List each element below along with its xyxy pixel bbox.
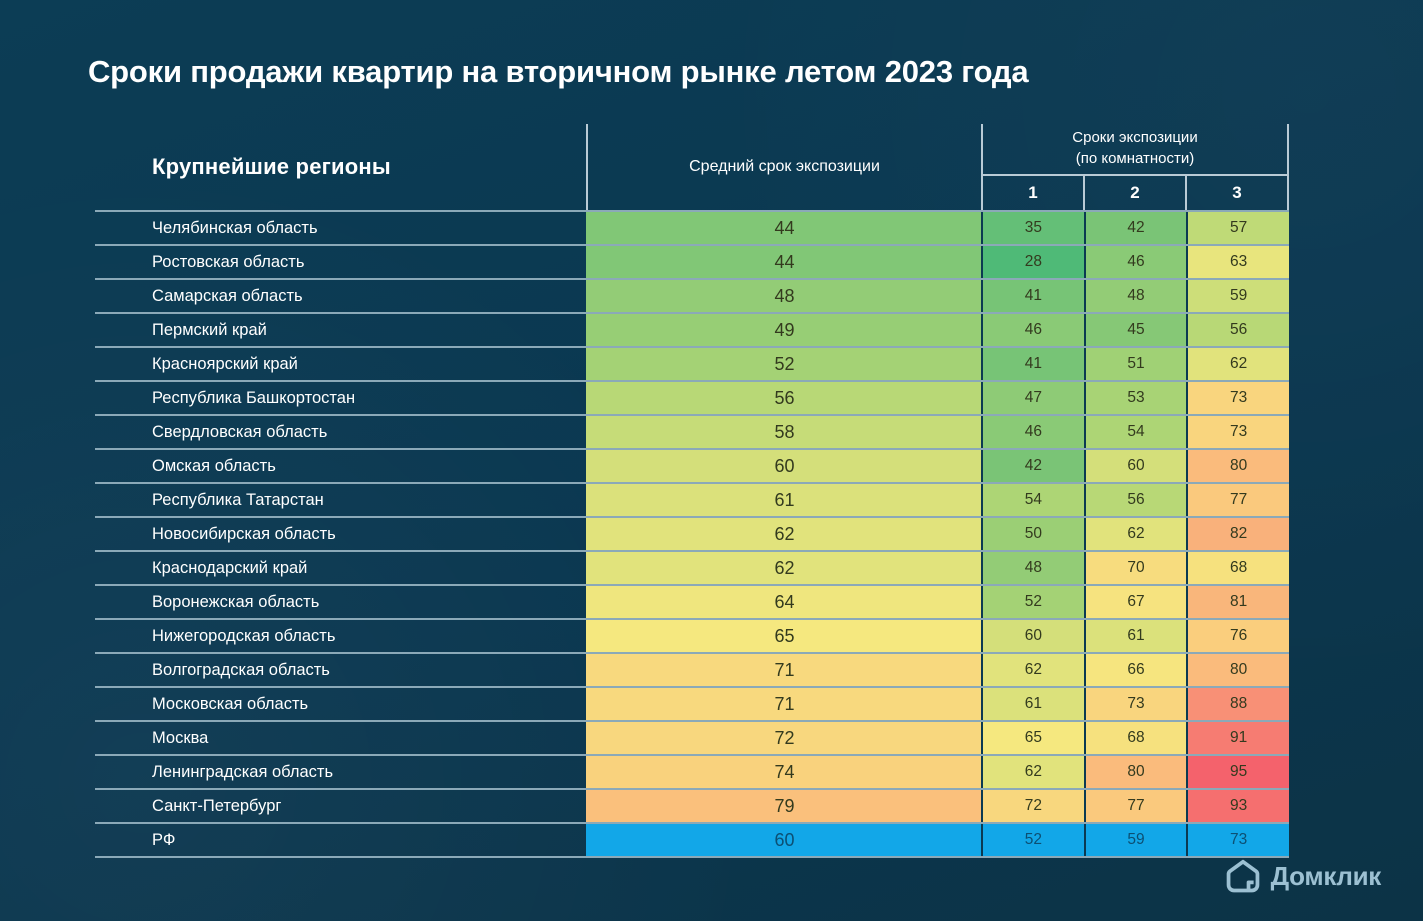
rooms-3-cell: 76 xyxy=(1186,620,1289,652)
table-row: Москва72656891 xyxy=(95,720,1289,754)
table-row: Нижегородская область65606176 xyxy=(95,618,1289,652)
exposure-table: Крупнейшие регионы Средний срок экспозиц… xyxy=(95,124,1289,858)
table-row: Санкт-Петербург79727793 xyxy=(95,788,1289,822)
region-name: Омская область xyxy=(95,450,586,482)
rooms-cell-group: 426080 xyxy=(981,450,1289,482)
rooms-2-cell: 45 xyxy=(1084,314,1187,346)
rooms-1-cell: 52 xyxy=(981,586,1084,618)
region-name: Краснодарский край xyxy=(95,552,586,584)
rooms-cell-group: 284663 xyxy=(981,246,1289,278)
region-name: Пермский край xyxy=(95,314,586,346)
header-rooms-3: 3 xyxy=(1185,176,1287,210)
average-exposure-cell: 72 xyxy=(586,722,981,754)
region-name: РФ xyxy=(95,824,586,856)
rooms-3-cell: 80 xyxy=(1186,654,1289,686)
rooms-3-cell: 59 xyxy=(1186,280,1289,312)
average-exposure-cell: 56 xyxy=(586,382,981,414)
region-name: Республика Татарстан xyxy=(95,484,586,516)
rooms-2-cell: 54 xyxy=(1084,416,1187,448)
rooms-cell-group: 628095 xyxy=(981,756,1289,788)
table-row: Ленинградская область74628095 xyxy=(95,754,1289,788)
brand-name: Домклик xyxy=(1271,861,1381,892)
table-row: Самарская область48414859 xyxy=(95,278,1289,312)
region-name: Новосибирская область xyxy=(95,518,586,550)
brand-logo: Домклик xyxy=(1226,859,1381,893)
header-rooms-2: 2 xyxy=(1083,176,1185,210)
rooms-1-cell: 28 xyxy=(981,246,1084,278)
rooms-2-cell: 68 xyxy=(1084,722,1187,754)
average-exposure-cell: 64 xyxy=(586,586,981,618)
table-row: Челябинская область44354257 xyxy=(95,210,1289,244)
table-row: РФ60525973 xyxy=(95,822,1289,858)
average-exposure-cell: 62 xyxy=(586,552,981,584)
rooms-3-cell: 73 xyxy=(1186,382,1289,414)
rooms-1-cell: 61 xyxy=(981,688,1084,720)
rooms-cell-group: 475373 xyxy=(981,382,1289,414)
average-exposure-cell: 65 xyxy=(586,620,981,652)
rooms-1-cell: 54 xyxy=(981,484,1084,516)
table-row: Новосибирская область62506282 xyxy=(95,516,1289,550)
rooms-2-cell: 42 xyxy=(1084,212,1187,244)
rooms-1-cell: 60 xyxy=(981,620,1084,652)
table-header: Крупнейшие регионы Средний срок экспозиц… xyxy=(95,124,1289,210)
rooms-2-cell: 53 xyxy=(1084,382,1187,414)
average-exposure-cell: 60 xyxy=(586,450,981,482)
table-body: Челябинская область44354257Ростовская об… xyxy=(95,210,1289,858)
rooms-3-cell: 81 xyxy=(1186,586,1289,618)
table-row: Воронежская область64526781 xyxy=(95,584,1289,618)
average-exposure-cell: 74 xyxy=(586,756,981,788)
rooms-3-cell: 88 xyxy=(1186,688,1289,720)
region-name: Ленинградская область xyxy=(95,756,586,788)
rooms-3-cell: 73 xyxy=(1186,824,1289,856)
rooms-2-cell: 66 xyxy=(1084,654,1187,686)
rooms-1-cell: 65 xyxy=(981,722,1084,754)
region-name: Волгоградская область xyxy=(95,654,586,686)
rooms-cell-group: 415162 xyxy=(981,348,1289,380)
rooms-1-cell: 35 xyxy=(981,212,1084,244)
rooms-1-cell: 50 xyxy=(981,518,1084,550)
region-name: Красноярский край xyxy=(95,348,586,380)
rooms-2-cell: 46 xyxy=(1084,246,1187,278)
average-exposure-cell: 71 xyxy=(586,654,981,686)
header-rooms-title-line1: Сроки экспозиции xyxy=(1072,128,1197,149)
rooms-1-cell: 41 xyxy=(981,280,1084,312)
rooms-3-cell: 62 xyxy=(1186,348,1289,380)
rooms-3-cell: 57 xyxy=(1186,212,1289,244)
rooms-cell-group: 414859 xyxy=(981,280,1289,312)
table-row: Московская область71617388 xyxy=(95,686,1289,720)
table-row: Республика Татарстан61545677 xyxy=(95,482,1289,516)
rooms-2-cell: 56 xyxy=(1084,484,1187,516)
rooms-cell-group: 506282 xyxy=(981,518,1289,550)
rooms-cell-group: 626680 xyxy=(981,654,1289,686)
rooms-cell-group: 545677 xyxy=(981,484,1289,516)
header-rooms-title: Сроки экспозиции (по комнатности) xyxy=(983,124,1287,176)
rooms-cell-group: 526781 xyxy=(981,586,1289,618)
table-row: Республика Башкортостан56475373 xyxy=(95,380,1289,414)
rooms-3-cell: 82 xyxy=(1186,518,1289,550)
rooms-2-cell: 61 xyxy=(1084,620,1187,652)
rooms-1-cell: 46 xyxy=(981,416,1084,448)
table-row: Красноярский край52415162 xyxy=(95,346,1289,380)
rooms-cell-group: 465473 xyxy=(981,416,1289,448)
region-name: Санкт-Петербург xyxy=(95,790,586,822)
region-name: Ростовская область xyxy=(95,246,586,278)
rooms-1-cell: 48 xyxy=(981,552,1084,584)
rooms-1-cell: 47 xyxy=(981,382,1084,414)
rooms-3-cell: 63 xyxy=(1186,246,1289,278)
region-name: Воронежская область xyxy=(95,586,586,618)
rooms-2-cell: 67 xyxy=(1084,586,1187,618)
rooms-3-cell: 91 xyxy=(1186,722,1289,754)
rooms-cell-group: 727793 xyxy=(981,790,1289,822)
rooms-2-cell: 48 xyxy=(1084,280,1187,312)
rooms-3-cell: 73 xyxy=(1186,416,1289,448)
rooms-cell-group: 487068 xyxy=(981,552,1289,584)
rooms-3-cell: 56 xyxy=(1186,314,1289,346)
rooms-2-cell: 80 xyxy=(1084,756,1187,788)
average-exposure-cell: 44 xyxy=(586,212,981,244)
rooms-1-cell: 41 xyxy=(981,348,1084,380)
table-row: Волгоградская область71626680 xyxy=(95,652,1289,686)
region-name: Свердловская область xyxy=(95,416,586,448)
rooms-1-cell: 52 xyxy=(981,824,1084,856)
rooms-3-cell: 95 xyxy=(1186,756,1289,788)
average-exposure-cell: 52 xyxy=(586,348,981,380)
rooms-2-cell: 73 xyxy=(1084,688,1187,720)
rooms-3-cell: 77 xyxy=(1186,484,1289,516)
rooms-cell-group: 354257 xyxy=(981,212,1289,244)
rooms-2-cell: 51 xyxy=(1084,348,1187,380)
rooms-2-cell: 77 xyxy=(1084,790,1187,822)
rooms-cell-group: 617388 xyxy=(981,688,1289,720)
average-exposure-cell: 44 xyxy=(586,246,981,278)
infographic-page: Сроки продажи квартир на вторичном рынке… xyxy=(0,0,1423,921)
rooms-3-cell: 93 xyxy=(1186,790,1289,822)
rooms-2-cell: 60 xyxy=(1084,450,1187,482)
rooms-3-cell: 80 xyxy=(1186,450,1289,482)
header-rooms-group: Сроки экспозиции (по комнатности) 1 2 3 xyxy=(981,124,1289,210)
average-exposure-cell: 58 xyxy=(586,416,981,448)
header-rooms-subheaders: 1 2 3 xyxy=(983,176,1287,210)
table-row: Свердловская область58465473 xyxy=(95,414,1289,448)
header-rooms-1: 1 xyxy=(983,176,1083,210)
average-exposure-cell: 71 xyxy=(586,688,981,720)
average-exposure-cell: 61 xyxy=(586,484,981,516)
rooms-cell-group: 606176 xyxy=(981,620,1289,652)
rooms-cell-group: 464556 xyxy=(981,314,1289,346)
rooms-cell-group: 525973 xyxy=(981,824,1289,856)
region-name: Челябинская область xyxy=(95,212,586,244)
rooms-1-cell: 46 xyxy=(981,314,1084,346)
average-exposure-cell: 49 xyxy=(586,314,981,346)
region-name: Московская область xyxy=(95,688,586,720)
average-exposure-cell: 62 xyxy=(586,518,981,550)
region-name: Москва xyxy=(95,722,586,754)
rooms-2-cell: 59 xyxy=(1084,824,1187,856)
average-exposure-cell: 60 xyxy=(586,824,981,856)
region-name: Нижегородская область xyxy=(95,620,586,652)
page-title: Сроки продажи квартир на вторичном рынке… xyxy=(88,54,1028,90)
rooms-1-cell: 42 xyxy=(981,450,1084,482)
average-exposure-cell: 79 xyxy=(586,790,981,822)
rooms-1-cell: 62 xyxy=(981,654,1084,686)
header-average-column: Средний срок экспозиции xyxy=(586,124,981,210)
rooms-1-cell: 62 xyxy=(981,756,1084,788)
rooms-cell-group: 656891 xyxy=(981,722,1289,754)
table-row: Пермский край49464556 xyxy=(95,312,1289,346)
header-region-column: Крупнейшие регионы xyxy=(95,124,586,210)
rooms-2-cell: 70 xyxy=(1084,552,1187,584)
table-row: Краснодарский край62487068 xyxy=(95,550,1289,584)
header-rooms-title-line2: (по комнатности) xyxy=(1076,149,1195,170)
rooms-3-cell: 68 xyxy=(1186,552,1289,584)
region-name: Республика Башкортостан xyxy=(95,382,586,414)
rooms-1-cell: 72 xyxy=(981,790,1084,822)
rooms-2-cell: 62 xyxy=(1084,518,1187,550)
table-row: Ростовская область44284663 xyxy=(95,244,1289,278)
table-row: Омская область60426080 xyxy=(95,448,1289,482)
average-exposure-cell: 48 xyxy=(586,280,981,312)
house-pin-icon xyxy=(1226,859,1260,893)
region-name: Самарская область xyxy=(95,280,586,312)
